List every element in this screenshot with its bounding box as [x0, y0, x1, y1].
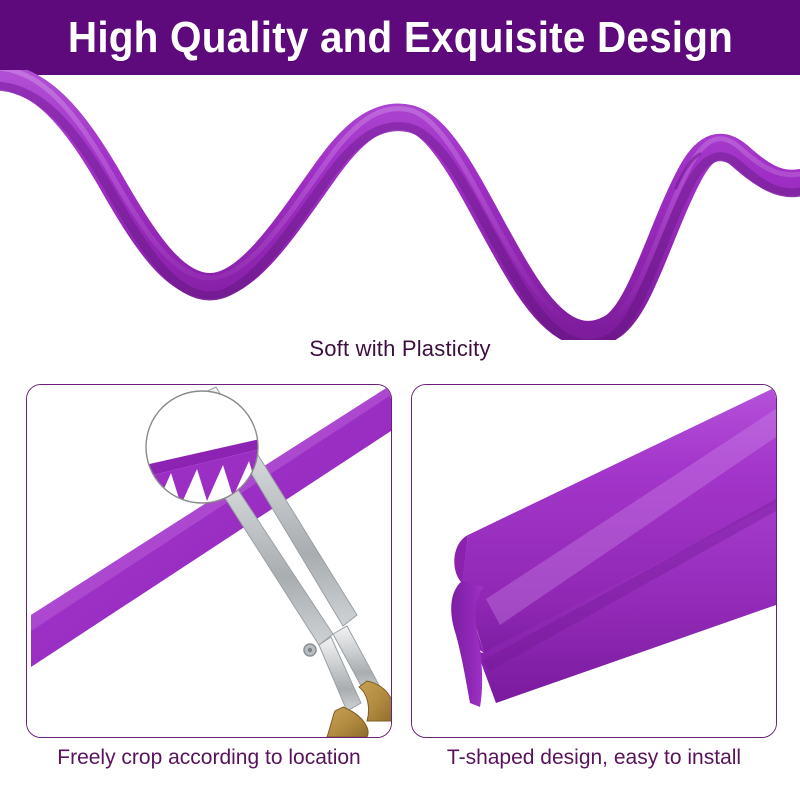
panel-t-shaped-design	[411, 384, 777, 738]
hero-wavy-strip-image	[0, 70, 800, 340]
strip-lower-edge	[0, 86, 800, 340]
wavy-strip-illustration	[0, 70, 800, 340]
scissors-cutting-illustration	[27, 385, 391, 737]
hero-caption: Soft with Plasticity	[0, 336, 800, 362]
t-profile-illustration	[412, 385, 776, 737]
caption-t-shaped-design: T-shaped design, easy to install	[411, 746, 777, 770]
caption-freely-crop: Freely crop according to location	[26, 746, 392, 770]
product-marketing-image: High Quality and Exquisite Design	[0, 0, 800, 800]
panel-freely-crop	[26, 384, 392, 738]
header-banner: High Quality and Exquisite Design	[0, 0, 800, 75]
page-title: High Quality and Exquisite Design	[67, 13, 732, 63]
scissor-pivot-center	[308, 648, 312, 652]
